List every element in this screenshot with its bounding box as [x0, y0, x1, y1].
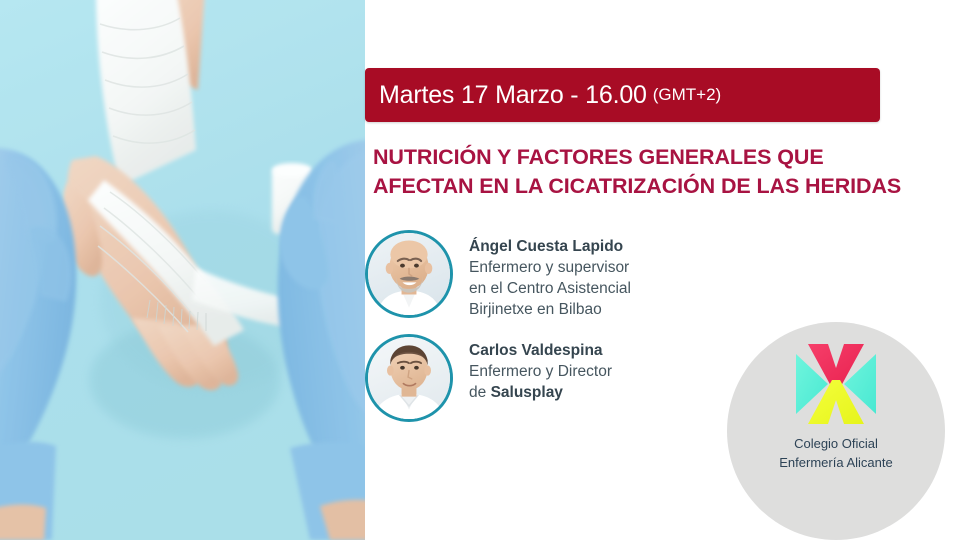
date-banner-main-text: Martes 17 Marzo - 16.00	[379, 81, 647, 110]
bandaged-hand-photo-icon	[0, 0, 365, 540]
avatar	[365, 230, 453, 318]
date-banner: Martes 17 Marzo - 16.00 (GMT+2)	[365, 68, 880, 122]
hero-photo-panel	[0, 0, 365, 540]
speaker-role-line: Enfermero y Director	[469, 361, 612, 382]
organization-logo-badge: Colegio Oficial Enfermería Alicante	[727, 322, 945, 540]
speaker-role-prefix: de	[469, 384, 491, 401]
page-title-line-1: NUTRICIÓN Y FACTORES GENERALES QUE	[373, 143, 953, 172]
speaker-role-line: de Salusplay	[469, 382, 612, 403]
avatar	[365, 334, 453, 422]
speaker-list: Ángel Cuesta Lapido Enfermero y supervis…	[365, 230, 705, 436]
speaker-item-carlos-valdespina: Carlos Valdespina Enfermero y Director d…	[365, 334, 705, 422]
speaker-name: Carlos Valdespina	[469, 340, 612, 361]
speaker-role-company: Salusplay	[491, 384, 563, 401]
speaker-item-angel-cuesta-lapido: Ángel Cuesta Lapido Enfermero y supervis…	[365, 230, 705, 320]
page-title: NUTRICIÓN Y FACTORES GENERALES QUE AFECT…	[373, 143, 953, 201]
speaker-role-line: en el Centro Asistencial	[469, 278, 631, 299]
speaker-name: Ángel Cuesta Lapido	[469, 236, 631, 257]
speaker-details: Ángel Cuesta Lapido Enfermero y supervis…	[453, 230, 631, 320]
speaker-portrait-angel-icon	[368, 233, 450, 315]
date-banner-timezone-text: (GMT+2)	[653, 85, 721, 105]
speaker-role-line: Enfermero y supervisor	[469, 257, 631, 278]
speaker-role-line: Birjinetxe en Bilbao	[469, 299, 631, 320]
logo-caption-line-1: Colegio Oficial	[727, 434, 945, 453]
colegio-enfermeria-x-mark-icon	[788, 340, 884, 428]
logo-caption-line-2: Enfermería Alicante	[727, 453, 945, 472]
content-column: Martes 17 Marzo - 16.00 (GMT+2) NUTRICIÓ…	[365, 0, 960, 540]
speaker-details: Carlos Valdespina Enfermero y Director d…	[453, 334, 612, 403]
webinar-poster: Martes 17 Marzo - 16.00 (GMT+2) NUTRICIÓ…	[0, 0, 960, 540]
logo-caption: Colegio Oficial Enfermería Alicante	[727, 434, 945, 472]
logo-mark	[788, 340, 884, 428]
page-title-line-2: AFECTAN EN LA CICATRIZACIÓN DE LAS HERID…	[373, 172, 953, 201]
speaker-portrait-carlos-icon	[368, 337, 450, 419]
